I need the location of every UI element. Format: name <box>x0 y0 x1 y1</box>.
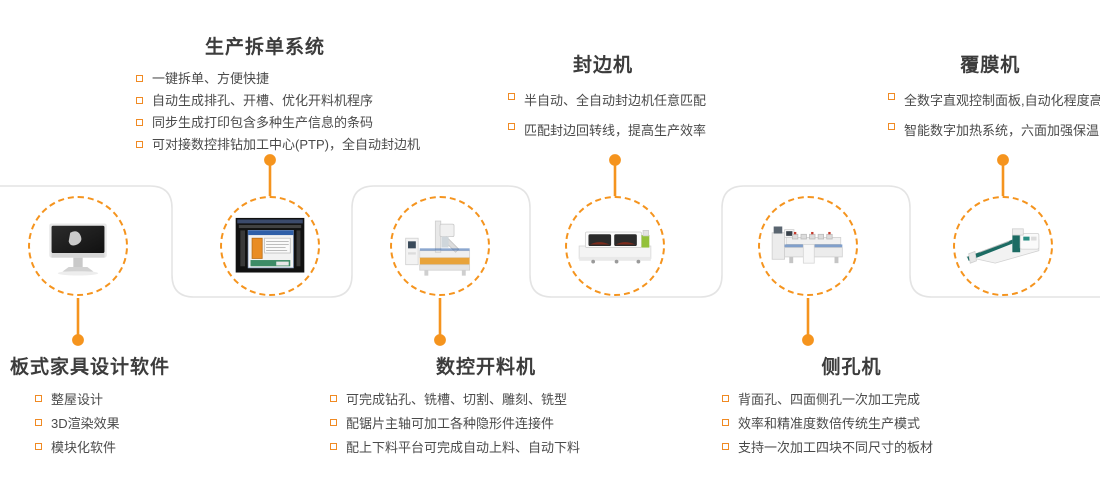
list-item: 支持一次加工四块不同尺寸的板材 <box>722 436 933 460</box>
square-bullet-icon <box>136 97 143 104</box>
text-group-design-software: 板式家具设计软件 整屋设计 3D渲染效果 模块化软件 <box>10 358 170 460</box>
bullet-text: 智能数字加热系统，六面加强保温 <box>904 123 1099 138</box>
bullet-text: 3D渲染效果 <box>51 416 120 431</box>
bullet-text: 背面孔、四面侧孔一次加工完成 <box>738 392 920 407</box>
square-bullet-icon <box>508 93 515 100</box>
square-bullet-icon <box>35 443 42 450</box>
flow-path-line <box>0 186 1100 297</box>
cad-software-screen-icon <box>231 211 309 281</box>
node-side-driller[interactable] <box>758 196 858 296</box>
square-bullet-icon <box>722 443 729 450</box>
list-item: 配上下料平台可完成自动上料、自动下料 <box>330 436 580 460</box>
bullet-text: 效率和精准度数倍传统生产模式 <box>738 416 920 431</box>
bullet-text: 全数字直观控制面板,自动化程度高 <box>904 93 1100 108</box>
text-group-side-driller: 侧孔机 背面孔、四面侧孔一次加工完成 效率和精准度数倍传统生产模式 支持一次加工… <box>722 358 933 460</box>
bullet-list: 可完成钻孔、铣槽、切割、雕刻、铣型 配锯片主轴可加工各种隐形件连接件 配上下料平… <box>330 388 580 460</box>
bullet-text: 半自动、全自动封边机任意匹配 <box>524 93 706 108</box>
group-title: 生产拆单系统 <box>136 38 420 59</box>
square-bullet-icon <box>136 75 143 82</box>
node-software[interactable] <box>28 196 128 296</box>
node-laminator[interactable] <box>953 196 1053 296</box>
square-bullet-icon <box>330 443 337 450</box>
bullet-text: 可完成钻孔、铣槽、切割、雕刻、铣型 <box>346 392 567 407</box>
square-bullet-icon <box>136 141 143 148</box>
square-bullet-icon <box>722 419 729 426</box>
node-edge-bander[interactable] <box>565 196 665 296</box>
square-bullet-icon <box>888 93 895 100</box>
text-group-split-system: 生产拆单系统 一键拆单、方便快捷 自动生成排孔、开槽、优化开料机程序 同步生成打… <box>136 38 420 156</box>
bullet-text: 同步生成打印包含多种生产信息的条码 <box>152 115 373 130</box>
list-item: 一键拆单、方便快捷 <box>136 68 420 90</box>
node-split-system[interactable] <box>220 196 320 296</box>
list-item: 全数字直观控制面板,自动化程度高 <box>888 86 1100 116</box>
list-item: 可完成钻孔、铣槽、切割、雕刻、铣型 <box>330 388 580 412</box>
list-item: 可对接数控排钻加工中心(PTP)，全自动封边机 <box>136 134 420 156</box>
list-item: 自动生成排孔、开槽、优化开料机程序 <box>136 90 420 112</box>
list-item: 整屋设计 <box>35 388 170 412</box>
list-item: 模块化软件 <box>35 436 170 460</box>
list-item: 同步生成打印包含多种生产信息的条码 <box>136 112 420 134</box>
connector-dot-lam <box>998 155 1007 164</box>
list-item: 配锯片主轴可加工各种隐形件连接件 <box>330 412 580 436</box>
group-title: 侧孔机 <box>722 358 933 379</box>
laminating-machine-icon <box>964 211 1042 281</box>
bullet-text: 支持一次加工四块不同尺寸的板材 <box>738 440 933 455</box>
imac-monitor-icon <box>39 211 117 281</box>
cnc-router-machine-icon <box>401 211 479 281</box>
connector-dot-cnc <box>435 335 444 344</box>
bullet-list: 半自动、全自动封边机任意匹配 匹配封边回转线，提高生产效率 <box>508 86 706 146</box>
bullet-list: 一键拆单、方便快捷 自动生成排孔、开槽、优化开料机程序 同步生成打印包含多种生产… <box>136 68 420 156</box>
square-bullet-icon <box>330 419 337 426</box>
list-item: 背面孔、四面侧孔一次加工完成 <box>722 388 933 412</box>
square-bullet-icon <box>330 395 337 402</box>
square-bullet-icon <box>508 123 515 130</box>
connector-stems <box>73 155 1007 344</box>
edge-banding-machine-icon <box>576 211 654 281</box>
square-bullet-icon <box>35 419 42 426</box>
bullet-list: 背面孔、四面侧孔一次加工完成 效率和精准度数倍传统生产模式 支持一次加工四块不同… <box>722 388 933 460</box>
bullet-text: 自动生成排孔、开槽、优化开料机程序 <box>152 93 373 108</box>
node-cnc-router[interactable] <box>390 196 490 296</box>
group-title: 数控开料机 <box>330 358 580 379</box>
square-bullet-icon <box>888 123 895 130</box>
group-title: 板式家具设计软件 <box>10 358 170 379</box>
bullet-list: 整屋设计 3D渲染效果 模块化软件 <box>10 388 170 460</box>
connector-dot-split <box>265 155 274 164</box>
connector-dot-side <box>803 335 812 344</box>
list-item: 效率和精准度数倍传统生产模式 <box>722 412 933 436</box>
connector-dot-edge <box>610 155 619 164</box>
list-item: 3D渲染效果 <box>35 412 170 436</box>
bullet-text: 配锯片主轴可加工各种隐形件连接件 <box>346 416 554 431</box>
group-title: 覆膜机 <box>888 56 1100 77</box>
square-bullet-icon <box>35 395 42 402</box>
group-title: 封边机 <box>508 56 706 77</box>
text-group-edge-bander: 封边机 半自动、全自动封边机任意匹配 匹配封边回转线，提高生产效率 <box>508 56 706 146</box>
bullet-list: 全数字直观控制面板,自动化程度高 智能数字加热系统，六面加强保温 <box>888 86 1100 146</box>
list-item: 半自动、全自动封边机任意匹配 <box>508 86 706 116</box>
bullet-text: 配上下料平台可完成自动上料、自动下料 <box>346 440 580 455</box>
bullet-text: 可对接数控排钻加工中心(PTP)，全自动封边机 <box>152 137 420 152</box>
square-bullet-icon <box>722 395 729 402</box>
side-drilling-machine-icon <box>769 211 847 281</box>
bullet-text: 整屋设计 <box>51 392 103 407</box>
text-group-laminator: 覆膜机 全数字直观控制面板,自动化程度高 智能数字加热系统，六面加强保温 <box>888 56 1100 146</box>
bullet-text: 模块化软件 <box>51 440 116 455</box>
list-item: 匹配封边回转线，提高生产效率 <box>508 116 706 146</box>
text-group-cnc-router: 数控开料机 可完成钻孔、铣槽、切割、雕刻、铣型 配锯片主轴可加工各种隐形件连接件… <box>330 358 580 460</box>
square-bullet-icon <box>136 119 143 126</box>
bullet-text: 匹配封边回转线，提高生产效率 <box>524 123 706 138</box>
connector-dot-software <box>73 335 82 344</box>
list-item: 智能数字加热系统，六面加强保温 <box>888 116 1100 146</box>
infographic-canvas: 生产拆单系统 一键拆单、方便快捷 自动生成排孔、开槽、优化开料机程序 同步生成打… <box>0 0 1100 495</box>
bullet-text: 一键拆单、方便快捷 <box>152 71 269 86</box>
